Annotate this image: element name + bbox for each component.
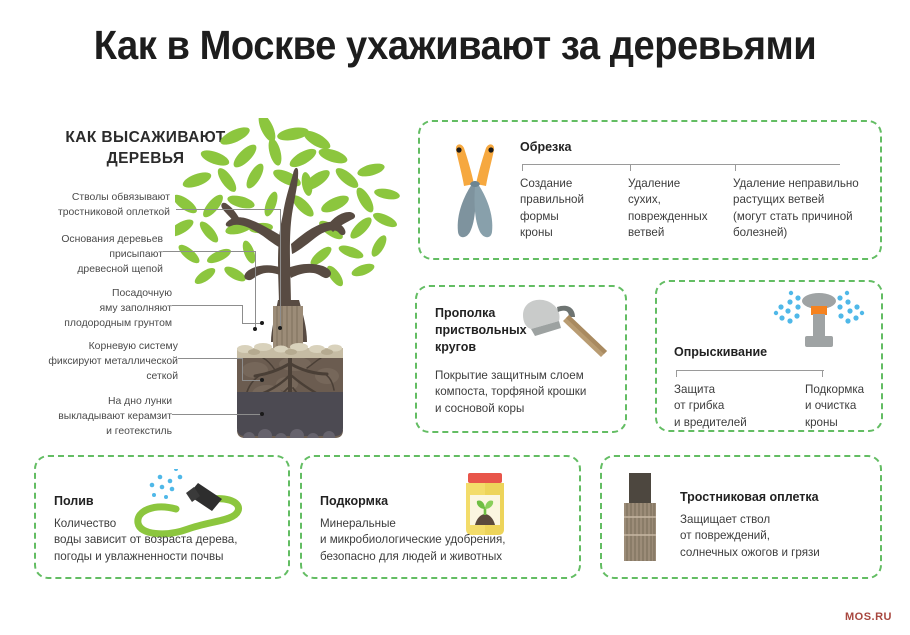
- spray-droplets-right: [837, 291, 864, 324]
- planting-label-keramzit: На дно лунки выкладывают керамзит и геот…: [38, 394, 172, 439]
- planting-label-root-mesh-l3: сеткой: [30, 369, 178, 384]
- card-pruning-col1-l2: правильной: [520, 192, 620, 208]
- card-feeding-text: Минеральные и микробиологические удобрен…: [320, 516, 575, 565]
- card-pruning[interactable]: Обрезка Создание правильной формы кроны …: [418, 120, 882, 260]
- planting-label-keramzit-l2: выкладывают керамзит: [38, 409, 172, 424]
- planting-label-mulch-l2: присыпают: [40, 247, 163, 262]
- card-pruning-column-3: Удаление неправильно растущих ветвей (мо…: [733, 176, 883, 242]
- card-watering-text-l2: воды зависит от возраста дерева,: [54, 532, 288, 548]
- card-weeding-title: Прополка приствольных кругов: [435, 305, 535, 356]
- leader-line-keramzit: [172, 414, 262, 415]
- spray-droplets-left: [774, 291, 801, 324]
- card-reed-wrap-title: Тростниковая оплетка: [680, 490, 819, 504]
- card-pruning-col2-l2: сухих,: [628, 192, 736, 208]
- pruning-connector-tick-3: [735, 164, 736, 171]
- sprayer-base: [805, 336, 833, 347]
- leader-line-mulch: [163, 251, 255, 252]
- leader-line-fertile-soil: [172, 305, 242, 306]
- card-pruning-col3-l3: (могут стать причиной: [733, 209, 883, 225]
- card-pruning-col1-l1: Создание: [520, 176, 620, 192]
- card-weeding[interactable]: Прополка приствольных кругов Покрытие за…: [415, 285, 627, 433]
- planting-label-root-mesh-l1: Корневую систему: [30, 339, 178, 354]
- card-pruning-column-1: Создание правильной формы кроны: [520, 176, 620, 242]
- leader-dot-trunk-wrap: [278, 326, 282, 330]
- sprayer-stem: [813, 314, 825, 338]
- leader-line-trunk-wrap: [176, 209, 280, 210]
- card-pruning-col1-l3: формы: [520, 209, 620, 225]
- leader-line-root-mesh-2: [242, 380, 262, 381]
- reed-trunk-top: [629, 473, 651, 505]
- card-spraying-col1-l1: Защита: [674, 382, 784, 398]
- card-watering-text: Количество воды зависит от возраста дере…: [54, 516, 288, 565]
- card-watering-text-l3: погоды и увлажненности почвы: [54, 549, 288, 565]
- shear-rivet-right: [488, 147, 493, 152]
- planting-label-fertile-soil: Посадочную яму заполняют плодородным гру…: [40, 286, 172, 331]
- leader-vert-fertile-soil: [242, 305, 243, 323]
- planting-label-fertile-soil-l2: яму заполняют: [40, 301, 172, 316]
- shear-handles: [456, 144, 494, 186]
- spraying-connector: [676, 370, 824, 377]
- card-feeding-title: Подкормка: [320, 494, 388, 508]
- leader-line-root-mesh: [178, 358, 242, 359]
- card-reed-wrap-text-l2: от повреждений,: [680, 528, 876, 544]
- mos-ru-watermark: MOS.RU: [845, 611, 892, 623]
- pruning-shears-icon: [442, 140, 508, 249]
- planting-label-mulch-l1: Основания деревьев: [40, 232, 163, 247]
- leader-dot-mulch: [253, 327, 257, 331]
- planting-label-trunk-wrap-l2: тростниковой оплеткой: [40, 205, 170, 220]
- leader-dot-keramzit: [260, 412, 264, 416]
- card-pruning-col1-l4: кроны: [520, 225, 620, 241]
- card-feeding-text-l1: Минеральные: [320, 516, 575, 532]
- leader-dot-root-mesh: [260, 378, 264, 382]
- card-spraying-col1-l2: от грибка: [674, 398, 784, 414]
- pruning-connector-tick-1: [522, 164, 523, 171]
- planting-label-root-mesh-l2: фиксируют металлической: [30, 354, 178, 369]
- card-spraying-col2-l1: Подкормка: [805, 382, 905, 398]
- planting-label-keramzit-l3: и геотекстиль: [38, 424, 172, 439]
- card-spraying-title: Опрыскивание: [674, 345, 767, 359]
- planting-label-mulch-l3: древесной щепой: [40, 262, 163, 277]
- shear-rivet-left: [456, 147, 461, 152]
- spraying-connector-line: [676, 370, 824, 371]
- sprayer-icon: [772, 288, 866, 355]
- card-pruning-column-2: Удаление сухих, поврежденных ветвей: [628, 176, 736, 242]
- planting-label-trunk-wrap-l1: Стволы обвязывают: [40, 190, 170, 205]
- infographic-canvas: Как в Москве ухаживают за деревьями КАК …: [0, 0, 910, 635]
- card-pruning-title: Обрезка: [520, 140, 571, 154]
- card-pruning-col3-l4: болезней): [733, 225, 883, 241]
- leader-dot-fertile-soil: [260, 321, 264, 325]
- card-pruning-col2-l1: Удаление: [628, 176, 736, 192]
- pruning-connector-tick-2: [630, 164, 631, 171]
- spraying-connector-tick-1: [676, 370, 677, 377]
- card-feeding-text-l2: и микробиологические удобрения,: [320, 532, 575, 548]
- keramzit-layer: [237, 392, 343, 438]
- card-feeding[interactable]: Подкормка Минеральные и микробиологическ…: [300, 455, 581, 579]
- pruning-connector: [522, 164, 840, 171]
- card-watering-title: Полив: [54, 494, 94, 508]
- card-spraying-col1-l3: и вредителей: [674, 415, 784, 431]
- planting-label-trunk-wrap: Стволы обвязывают тростниковой оплеткой: [40, 190, 170, 220]
- hoe-handle-shade: [566, 315, 607, 354]
- hose-droplets: [150, 469, 183, 499]
- card-spraying-column-1: Защита от грибка и вредителей: [674, 382, 784, 431]
- pruning-connector-line: [522, 164, 840, 165]
- card-pruning-col2-l4: ветвей: [628, 225, 736, 241]
- card-weeding-title-l2: приствольных: [435, 322, 535, 339]
- card-weeding-text-l2: компоста, торфяной крошки: [435, 384, 617, 400]
- card-reed-wrap-text-l3: солнечных ожогов и грязи: [680, 545, 876, 561]
- card-reed-wrap[interactable]: Тростниковая оплетка Защищает ствол от п…: [600, 455, 882, 579]
- card-weeding-text: Покрытие защитным слоем компоста, торфян…: [435, 368, 617, 417]
- card-reed-wrap-text: Защищает ствол от повреждений, солнечных…: [680, 512, 876, 561]
- card-weeding-title-l1: Прополка: [435, 305, 535, 322]
- planting-label-root-mesh: Корневую систему фиксируют металлической…: [30, 339, 178, 384]
- planting-label-mulch: Основания деревьев присыпают древесной щ…: [40, 232, 163, 277]
- card-feeding-text-l3: безопасно для людей и животных: [320, 549, 575, 565]
- planting-label-keramzit-l1: На дно лунки: [38, 394, 172, 409]
- card-reed-wrap-text-l1: Защищает ствол: [680, 512, 876, 528]
- leader-vert-trunk-wrap: [280, 209, 281, 328]
- card-watering-text-l1: Количество: [54, 516, 288, 532]
- leader-vert-mulch: [255, 251, 256, 329]
- card-pruning-col3-l1: Удаление неправильно: [733, 176, 883, 192]
- planting-label-fertile-soil-l1: Посадочную: [40, 286, 172, 301]
- spraying-connector-tick-2: [822, 370, 823, 377]
- tree-illustration: [175, 118, 410, 438]
- reed-wrap-icon: [620, 473, 664, 570]
- leader-line-fertile-soil-2: [242, 323, 262, 324]
- card-spraying[interactable]: Опрыскивание Защита от грибка и вредител…: [655, 280, 883, 432]
- card-weeding-title-l3: кругов: [435, 339, 535, 356]
- card-watering[interactable]: Полив Количество воды зависит от возраст…: [34, 455, 290, 579]
- jar-lid: [468, 473, 502, 483]
- card-spraying-col2-l2: и очистка: [805, 398, 905, 414]
- card-spraying-column-2: Подкормка и очистка кроны: [805, 382, 905, 431]
- planting-label-fertile-soil-l3: плодородным грунтом: [40, 316, 172, 331]
- leader-vert-root-mesh: [242, 358, 243, 380]
- card-pruning-col3-l2: растущих ветвей: [733, 192, 883, 208]
- card-spraying-col2-l3: кроны: [805, 415, 905, 431]
- card-weeding-text-l1: Покрытие защитным слоем: [435, 368, 617, 384]
- page-title: Как в Москве ухаживают за деревьями: [32, 22, 878, 69]
- card-weeding-text-l3: и сосновой коры: [435, 401, 617, 417]
- shear-blades: [458, 184, 493, 237]
- hoe-neck: [557, 306, 575, 317]
- sprayer-orange-band: [811, 306, 827, 315]
- card-pruning-col2-l3: поврежденных: [628, 209, 736, 225]
- soil-cross-section: [237, 343, 343, 438]
